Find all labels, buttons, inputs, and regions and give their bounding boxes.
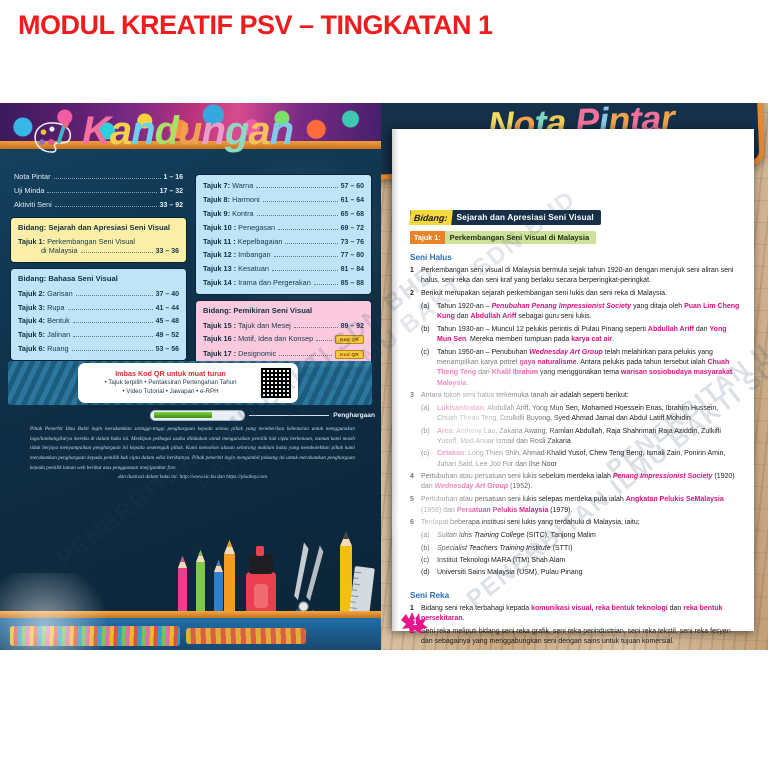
acknowledgement-body: Pihak Penerbit Ilmu Bakti ingin merakamk…: [30, 426, 355, 471]
sublist-marker: (c): [421, 449, 437, 470]
dot-leader: [279, 355, 332, 356]
qr-download-card[interactable]: Imbas Kod QR untuk muat turun • Tajuk te…: [78, 363, 298, 403]
toc-row-label: Tajuk 16 : Motif, Idea dan Konsep: [203, 334, 313, 343]
toc-row[interactable]: Tajuk 12 : Imbangan77 – 80: [200, 248, 367, 262]
sublist-text: Specialist Teachers Training Institute (…: [437, 544, 740, 554]
dot-leader: [294, 327, 338, 328]
sublist-marker: (b): [421, 427, 437, 448]
list-text: Antara tokoh seni halus terkemuka tanah …: [421, 391, 740, 401]
supply-tray: [0, 618, 381, 650]
toc-group-box: Bidang: Sejarah dan Apresiasi Seni Visua…: [10, 217, 187, 264]
toc-row[interactable]: Tajuk 1: Perkembangan Seni Visualdi Mala…: [15, 235, 182, 258]
note-sublist-item: (c)Cetakan: Long Thien Shih, Ahmad Khali…: [421, 449, 740, 470]
right-page: Nota Pintar Bidang: Sejarah dan Apresias…: [381, 103, 768, 650]
note-list-item: 3Antara tokoh seni halus terkemuka tanah…: [410, 391, 740, 401]
kandungan-heading-block: Kandungan: [10, 111, 370, 163]
note-sublist: (a)Lukisan/catan: Abdullah Ariff, Yong M…: [421, 404, 740, 470]
toc-row[interactable]: Tajuk 8: Harmoni61 – 64: [200, 193, 367, 207]
toc-row[interactable]: Tajuk 5: Jalinan49 – 52: [15, 328, 182, 342]
sublist-marker: (b): [421, 325, 437, 346]
list-text: Terdapat beberapa institusi seni lukis y…: [421, 518, 740, 528]
divider: [249, 415, 329, 416]
toc-group-heading: Bidang: Sejarah dan Apresiasi Seni Visua…: [15, 222, 182, 235]
toc-row-pages: 69 – 72: [341, 225, 364, 232]
toc-row-label: Tajuk 8: Harmoni: [203, 195, 260, 204]
bidang-banner: Bidang: Sejarah dan Apresiasi Seni Visua…: [410, 210, 601, 225]
toc-row-pages: 89 – 92: [341, 323, 364, 330]
toc-row-pages: 81 – 84: [341, 266, 364, 273]
toc-row-pages: 61 – 64: [341, 197, 364, 204]
toc-group-box: Tajuk 7: Warna57 – 60Tajuk 8: Harmoni61 …: [195, 174, 372, 295]
sublist-marker: (a): [421, 531, 437, 541]
page-title: MODUL KREATIF PSV – TINGKATAN 1: [18, 10, 493, 41]
note-sublist-item: (a)Lukisan/catan: Abdullah Ariff, Yong M…: [421, 404, 740, 425]
sublist-text: Universiti Sains Malaysia (USM), Pulau P…: [437, 568, 740, 578]
table-of-contents: Nota Pintar1 – 16Uji Minda17 – 32Aktivit…: [10, 169, 372, 389]
dot-leader: [272, 270, 338, 271]
dot-leader: [256, 187, 337, 188]
toc-row-pages: 65 – 68: [341, 211, 364, 218]
toc-row-pages: 1 – 16: [164, 174, 183, 181]
toc-row[interactable]: Tajuk 7: Warna57 – 60: [200, 179, 367, 193]
toc-row[interactable]: Tajuk 16 : Motif, Idea dan KonsepKod QR: [200, 332, 367, 347]
dot-leader: [274, 256, 338, 257]
qr-code-icon[interactable]: [260, 367, 292, 399]
note-list-item: 4Pertubuhan atau persatuan seni lukis se…: [410, 472, 740, 493]
toc-row-pages: 73 – 76: [341, 239, 364, 246]
sublist-text: Tahun 1950-an – Penubuhan Wednesday Art …: [437, 348, 740, 389]
toc-row-label: Tajuk 1: Perkembangan Seni Visual: [18, 237, 135, 246]
dot-leader: [257, 215, 338, 216]
shelf-ledge: [0, 611, 381, 618]
tajuk-tag: Tajuk 1:: [410, 231, 445, 244]
sublist-text: Cetakan: Long Thien Shih, Ahmad Khalid Y…: [437, 449, 740, 470]
dot-leader: [68, 309, 153, 310]
dot-leader: [263, 201, 338, 202]
list-text: Pertubuhan atau persatuan seni lukis sel…: [421, 495, 740, 516]
toc-row-pages: 33 – 92: [160, 202, 183, 209]
list-marker: 5: [410, 495, 421, 516]
toc-row-label: Tajuk 3: Rupa: [18, 303, 65, 312]
sublist-marker: (d): [421, 568, 437, 578]
left-page: Kandungan Nota Pintar1 – 16Uji Minda17 –…: [0, 103, 381, 650]
page-fold-shadow: [392, 129, 399, 631]
toc-row-label: Tajuk 4: Bentuk: [18, 316, 70, 325]
note-list-item: 5Pertubuhan atau persatuan seni lukis se…: [410, 495, 740, 516]
toc-row-label: Tajuk 12 : Imbangan: [203, 250, 271, 259]
toc-group-box: Bidang: Bahasa Seni VisualTajuk 2: Garis…: [10, 268, 187, 361]
sublist-text: Arca: Anthony Lau, Zakaria Awang, Ramlan…: [437, 427, 740, 448]
note-sublist-item: (a)Tahun 1920-an – Penubuhan Penang Impr…: [421, 302, 740, 323]
toc-row[interactable]: Tajuk 3: Rupa41 – 44: [15, 300, 182, 314]
toc-row-pages: 85 – 88: [341, 280, 364, 287]
sublist-text: Tahun 1920-an – Penubuhan Penang Impress…: [437, 302, 740, 323]
sublist-marker: (a): [421, 302, 437, 323]
sublist-text: Institut Teknologi MARA (ITM) Shah Alam: [437, 556, 740, 566]
toc-row-label-cont: di Malaysia: [41, 246, 78, 255]
note-list-item: 1Perkembangan seni visual di Malaysia be…: [410, 266, 740, 287]
note-sublist-item: (b)Tahun 1930-an – Muncul 12 pelukis per…: [421, 325, 740, 346]
toc-row-label: Uji Minda: [14, 186, 44, 195]
note-list-item: 2Seni reka meliputi bidang seni reka gra…: [410, 627, 740, 648]
toc-row-pages: 17 – 32: [160, 188, 183, 195]
toc-row[interactable]: Tajuk 6: Ruang53 – 56: [15, 341, 182, 355]
dot-leader: [73, 322, 153, 323]
note-sublist-item: (b)Arca: Anthony Lau, Zakaria Awang, Ram…: [421, 427, 740, 448]
page-number: 1: [401, 610, 429, 634]
stationery-photo: [0, 532, 381, 650]
seni-reka-list: 1Bidang seni reka terbahagi kepada komun…: [410, 604, 740, 650]
toc-row-badge[interactable]: Kod QR: [335, 335, 364, 344]
toc-row-pages: 49 – 52: [156, 332, 179, 339]
sublist-text: Lukisan/catan: Abdullah Ariff, Yong Mun …: [437, 404, 740, 425]
list-marker: 2: [410, 289, 421, 299]
toc-row-label: Tajuk 17 : Designomic: [203, 349, 276, 358]
toc-column-left: Nota Pintar1 – 16Uji Minda17 – 32Aktivit…: [10, 169, 187, 389]
toc-row-label: Aktiviti Seni: [14, 200, 52, 209]
dot-leader: [55, 206, 157, 207]
list-text: Perkembangan seni visual di Malaysia ber…: [421, 266, 740, 287]
sublist-marker: (a): [421, 404, 437, 425]
list-marker: 3: [410, 391, 421, 401]
art-palette-brush-icon: [32, 119, 78, 159]
note-page-paper: Bidang: Sejarah dan Apresiasi Seni Visua…: [392, 129, 754, 631]
qr-card-line1: • Tajuk terpilih • Pentaksiran Pertengah…: [84, 379, 257, 388]
note-list-item: 6Terdapat beberapa institusi seni lukis …: [410, 518, 740, 528]
toc-group-heading: Bidang: Bahasa Seni Visual: [15, 273, 182, 286]
toc-row-label: Tajuk 6: Ruang: [18, 344, 69, 353]
toc-row-label: Tajuk 11 : Kepelbagaian: [203, 237, 282, 246]
toc-row-pages: 33 – 36: [156, 248, 179, 255]
section-title-seni-reka: Seni Reka: [410, 591, 740, 600]
note-list-item: 1Bidang seni reka terbahagi kepada komun…: [410, 604, 740, 625]
toc-row-label: Tajuk 2: Garisan: [18, 289, 73, 298]
toc-row[interactable]: Tajuk 13 : Kesatuan81 – 84: [200, 262, 367, 276]
toc-row-label: Tajuk 13 : Kesatuan: [203, 264, 269, 273]
dot-leader: [54, 178, 161, 179]
toc-row[interactable]: Tajuk 17 : DesignomicKod QR: [200, 347, 367, 362]
sublist-marker: (c): [421, 348, 437, 389]
toc-row[interactable]: Aktiviti Seni33 – 92: [10, 197, 187, 211]
dot-leader: [314, 284, 338, 285]
note-sublist-item: (c)Tahun 1950-an – Penubuhan Wednesday A…: [421, 348, 740, 389]
note-content: Bidang: Sejarah dan Apresiasi Seni Visua…: [410, 207, 740, 650]
book-spread: Kandungan Nota Pintar1 – 16Uji Minda17 –…: [0, 103, 768, 650]
dot-leader: [81, 252, 153, 253]
toc-row-pages: 37 – 40: [156, 291, 179, 298]
dot-leader: [285, 243, 337, 244]
sublist-text: Tahun 1930-an – Muncul 12 pelukis perint…: [437, 325, 740, 346]
toc-row[interactable]: Tajuk 9: Kontra65 – 68: [200, 207, 367, 221]
seni-halus-list: 1Perkembangan seni visual di Malaysia be…: [410, 266, 740, 579]
sublist-marker: (b): [421, 544, 437, 554]
note-sublist: (a)Tahun 1920-an – Penubuhan Penang Impr…: [421, 302, 740, 389]
toc-row-label: Tajuk 9: Kontra: [203, 209, 254, 218]
dot-leader: [278, 229, 338, 230]
penghargaan-header-row: Penghargaan: [150, 408, 375, 422]
note-sublist-item: (a)Sultan Idris Training College (SITC),…: [421, 531, 740, 541]
note-sublist: (a)Sultan Idris Training College (SITC),…: [421, 531, 740, 578]
note-sublist-item: (d)Universiti Sains Malaysia (USM), Pula…: [421, 568, 740, 578]
toc-row-pages: 77 – 80: [341, 252, 364, 259]
acknowledgement-text: Pihak Penerbit Ilmu Bakti ingin merakamk…: [30, 425, 355, 483]
toc-row[interactable]: Tajuk 10 : Penegasan69 – 72: [200, 220, 367, 234]
tajuk-banner: Tajuk 1: Perkembangan Seni Visual di Mal…: [410, 231, 596, 244]
toc-row-label: Tajuk 14 : Irama dan Pergerakan: [203, 278, 311, 287]
screenshot-root: MODUL KREATIF PSV – TINGKATAN 1 Kandunga…: [0, 0, 768, 768]
list-text: Pertubuhan atau persatuan seni lukis seb…: [421, 472, 740, 493]
bidang-text: Sejarah dan Apresiasi Seni Visual: [457, 212, 594, 222]
list-text: Seni reka meliputi bidang seni reka graf…: [421, 627, 740, 648]
sublist-text: Sultan Idris Training College (SITC), Ta…: [437, 531, 740, 541]
toc-row-badge[interactable]: Kod QR: [335, 350, 364, 359]
section-title-seni-halus: Seni Halus: [410, 253, 740, 262]
toc-row-label: Tajuk 5: Jalinan: [18, 330, 70, 339]
page-number-splat: 1: [401, 610, 429, 634]
toc-group-heading: Bidang: Pemikiran Seni Visual: [200, 305, 367, 318]
toc-row[interactable]: Tajuk 2: Garisan37 – 40: [15, 286, 182, 300]
toc-row-label: Nota Pintar: [14, 172, 51, 181]
toc-group-box: Bidang: Pemikiran Seni VisualTajuk 15 : …: [195, 300, 372, 367]
toc-row-pages: 57 – 60: [341, 183, 364, 190]
list-marker: 6: [410, 518, 421, 528]
toc-row-label: Tajuk 10 : Penegasan: [203, 223, 275, 232]
toc-row-label: Tajuk 7: Warna: [203, 181, 253, 190]
list-marker: 1: [410, 266, 421, 287]
marker-pen-icon: [150, 410, 245, 421]
dot-leader: [76, 295, 153, 296]
dot-leader: [72, 350, 153, 351]
qr-card-title: Imbas Kod QR untuk muat turun: [84, 369, 257, 379]
toc-row-label: Tajuk 15 : Tajuk dan Mesej: [203, 321, 291, 330]
kandungan-title: Kandungan: [82, 109, 293, 154]
acknowledgement-last-line: dan ilustrasi dalam buku ini: http://www…: [30, 473, 355, 483]
toc-row[interactable]: Tajuk 15 : Tajuk dan Mesej89 – 92: [200, 318, 367, 332]
toc-row[interactable]: Nota Pintar1 – 16: [10, 169, 187, 183]
sublist-marker: (c): [421, 556, 437, 566]
toc-row[interactable]: Uji Minda17 – 32: [10, 183, 187, 197]
penghargaan-label: Penghargaan: [333, 412, 375, 419]
tajuk-text: Perkembangan Seni Visual di Malaysia: [445, 233, 597, 242]
toc-column-right: Tajuk 7: Warna57 – 60Tajuk 8: Harmoni61 …: [195, 169, 372, 389]
toc-row[interactable]: Tajuk 4: Bentuk45 – 48: [15, 314, 182, 328]
note-sublist-item: (b)Specialist Teachers Training Institut…: [421, 544, 740, 554]
list-marker: 4: [410, 472, 421, 493]
qr-card-line2: • Video Tutorial • Jawapan • e-RPH: [84, 388, 257, 397]
list-text: Berikut merupakan sejarah perkembangan s…: [421, 289, 740, 299]
toc-row-pages: 41 – 44: [156, 305, 179, 312]
toc-row[interactable]: Tajuk 11 : Kepelbagaian73 – 76: [200, 234, 367, 248]
list-text: Bidang seni reka terbahagi kepada komuni…: [421, 604, 740, 625]
toc-row-pages: 45 – 48: [156, 318, 179, 325]
note-sublist-item: (c)Institut Teknologi MARA (ITM) Shah Al…: [421, 556, 740, 566]
note-list-item: 2Berikut merupakan sejarah perkembangan …: [410, 289, 740, 299]
dot-leader: [73, 336, 152, 337]
toc-row-pages: 53 – 56: [156, 346, 179, 353]
dot-leader: [316, 340, 332, 341]
dot-leader: [47, 192, 156, 193]
bidang-tag: Bidang:: [409, 210, 452, 225]
toc-row[interactable]: Tajuk 14 : Irama dan Pergerakan85 – 88: [200, 275, 367, 289]
